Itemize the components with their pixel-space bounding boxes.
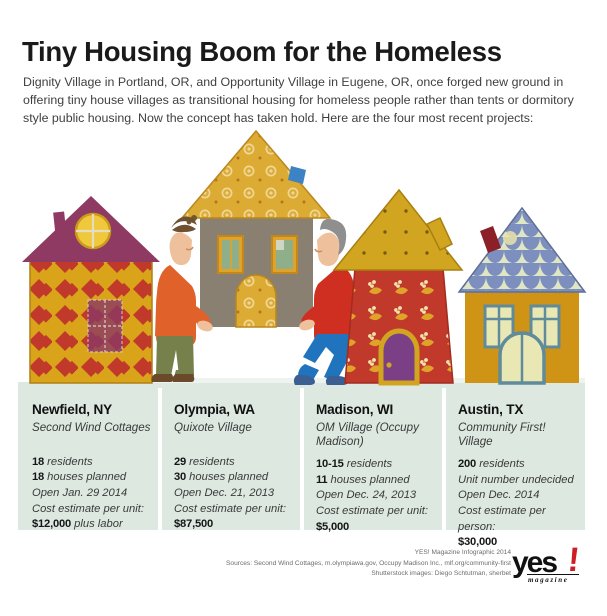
fact-houses: 11 houses planned <box>316 473 444 489</box>
project-name: Quixote Village <box>174 421 302 447</box>
houses-label: houses planned <box>189 471 268 483</box>
projects-panel: Newfield, NY Second Wind Cottages 18 res… <box>18 388 585 530</box>
houses-label: Unit number undecided <box>458 474 574 486</box>
cost-suffix: plus labor <box>74 518 123 530</box>
residents-value: 200 <box>458 458 476 470</box>
credit-line-sources: Sources: Second Wind Cottages, m.olympia… <box>111 559 511 570</box>
house-illustration-austin <box>459 208 585 383</box>
project-city: Austin, TX <box>458 402 578 418</box>
house-illustration-newfield <box>22 196 160 383</box>
fact-cost: $12,000 plus labor <box>32 517 160 533</box>
residents-label: residents <box>189 456 234 468</box>
fact-houses: 18 houses planned <box>32 470 160 486</box>
page-title: Tiny Housing Boom for the Homeless <box>22 38 592 67</box>
logo-subtitle: magazine <box>528 576 568 584</box>
fact-houses: 30 houses planned <box>174 470 302 486</box>
fact-open: Open Dec. 24, 2013 <box>316 488 444 504</box>
fact-residents: 29 residents <box>174 455 302 471</box>
project-city: Olympia, WA <box>174 402 302 418</box>
fact-residents: 200 residents <box>458 457 578 473</box>
houses-value: 30 <box>174 471 186 483</box>
project-facts: 29 residents 30 houses planned Open Dec.… <box>174 455 302 533</box>
fact-houses: Unit number undecided <box>458 473 578 489</box>
fact-cost-label: Cost estimate per unit: <box>316 504 444 520</box>
residents-value: 29 <box>174 456 186 468</box>
fact-cost-label: Cost estimate per unit: <box>174 502 302 518</box>
fact-cost: $87,500 <box>174 517 302 533</box>
cost-value: $30,000 <box>458 536 497 548</box>
project-name: Second Wind Cottages <box>32 421 160 447</box>
fact-open: Open Dec. 21, 2013 <box>174 486 302 502</box>
houses-value: 18 <box>32 471 44 483</box>
fact-cost-label: Cost estimate per unit: <box>32 502 160 518</box>
cost-value: $12,000 <box>32 518 71 530</box>
credit-line-images: Shutterstock images: Diego Schtutman, sh… <box>111 569 511 580</box>
project-name: OM Village (Occupy Madison) <box>316 421 444 449</box>
credit-line-magazine: YES! Magazine Infographic 2014 <box>111 548 511 559</box>
cost-value: $5,000 <box>316 521 349 533</box>
project-column-newfield: Newfield, NY Second Wind Cottages 18 res… <box>32 402 160 533</box>
infographic-page: Tiny Housing Boom for the Homeless Digni… <box>0 0 607 616</box>
residents-value: 10-15 <box>316 458 344 470</box>
fact-cost: $5,000 <box>316 520 444 536</box>
houses-label: houses planned <box>47 471 126 483</box>
logo-exclamation: ! <box>566 543 581 577</box>
project-facts: 10-15 residents 11 houses planned Open D… <box>316 457 444 535</box>
fact-open: Open Jan. 29 2014 <box>32 486 160 502</box>
house-illustration-madison <box>334 190 462 383</box>
fact-residents: 18 residents <box>32 455 160 471</box>
houses-label: houses planned <box>331 474 410 486</box>
fact-residents: 10-15 residents <box>316 457 444 473</box>
fact-cost-label: Cost estimate per person: <box>458 504 578 535</box>
project-city: Newfield, NY <box>32 402 160 418</box>
house-illustration-olympia <box>151 131 356 385</box>
project-name: Community First! Village <box>458 421 578 449</box>
residents-label: residents <box>47 456 92 468</box>
residents-value: 18 <box>32 456 44 468</box>
houses-value: 11 <box>316 474 327 486</box>
credits-block: YES! Magazine Infographic 2014 Sources: … <box>111 548 511 580</box>
project-column-austin: Austin, TX Community First! Village 200 … <box>458 402 578 551</box>
cost-value: $87,500 <box>174 518 213 530</box>
residents-label: residents <box>347 458 392 470</box>
residents-label: residents <box>479 458 524 470</box>
project-facts: 200 residents Unit number undecided Open… <box>458 457 578 551</box>
logo-rule <box>527 574 579 575</box>
project-column-olympia: Olympia, WA Quixote Village 29 residents… <box>174 402 302 533</box>
project-column-madison: Madison, WI OM Village (Occupy Madison) … <box>316 402 444 535</box>
fact-open: Open Dec. 2014 <box>458 488 578 504</box>
yes-magazine-logo: yes ! magazine <box>512 548 590 590</box>
illustration-stage <box>0 120 607 392</box>
project-city: Madison, WI <box>316 402 444 418</box>
project-facts: 18 residents 18 houses planned Open Jan.… <box>32 455 160 533</box>
